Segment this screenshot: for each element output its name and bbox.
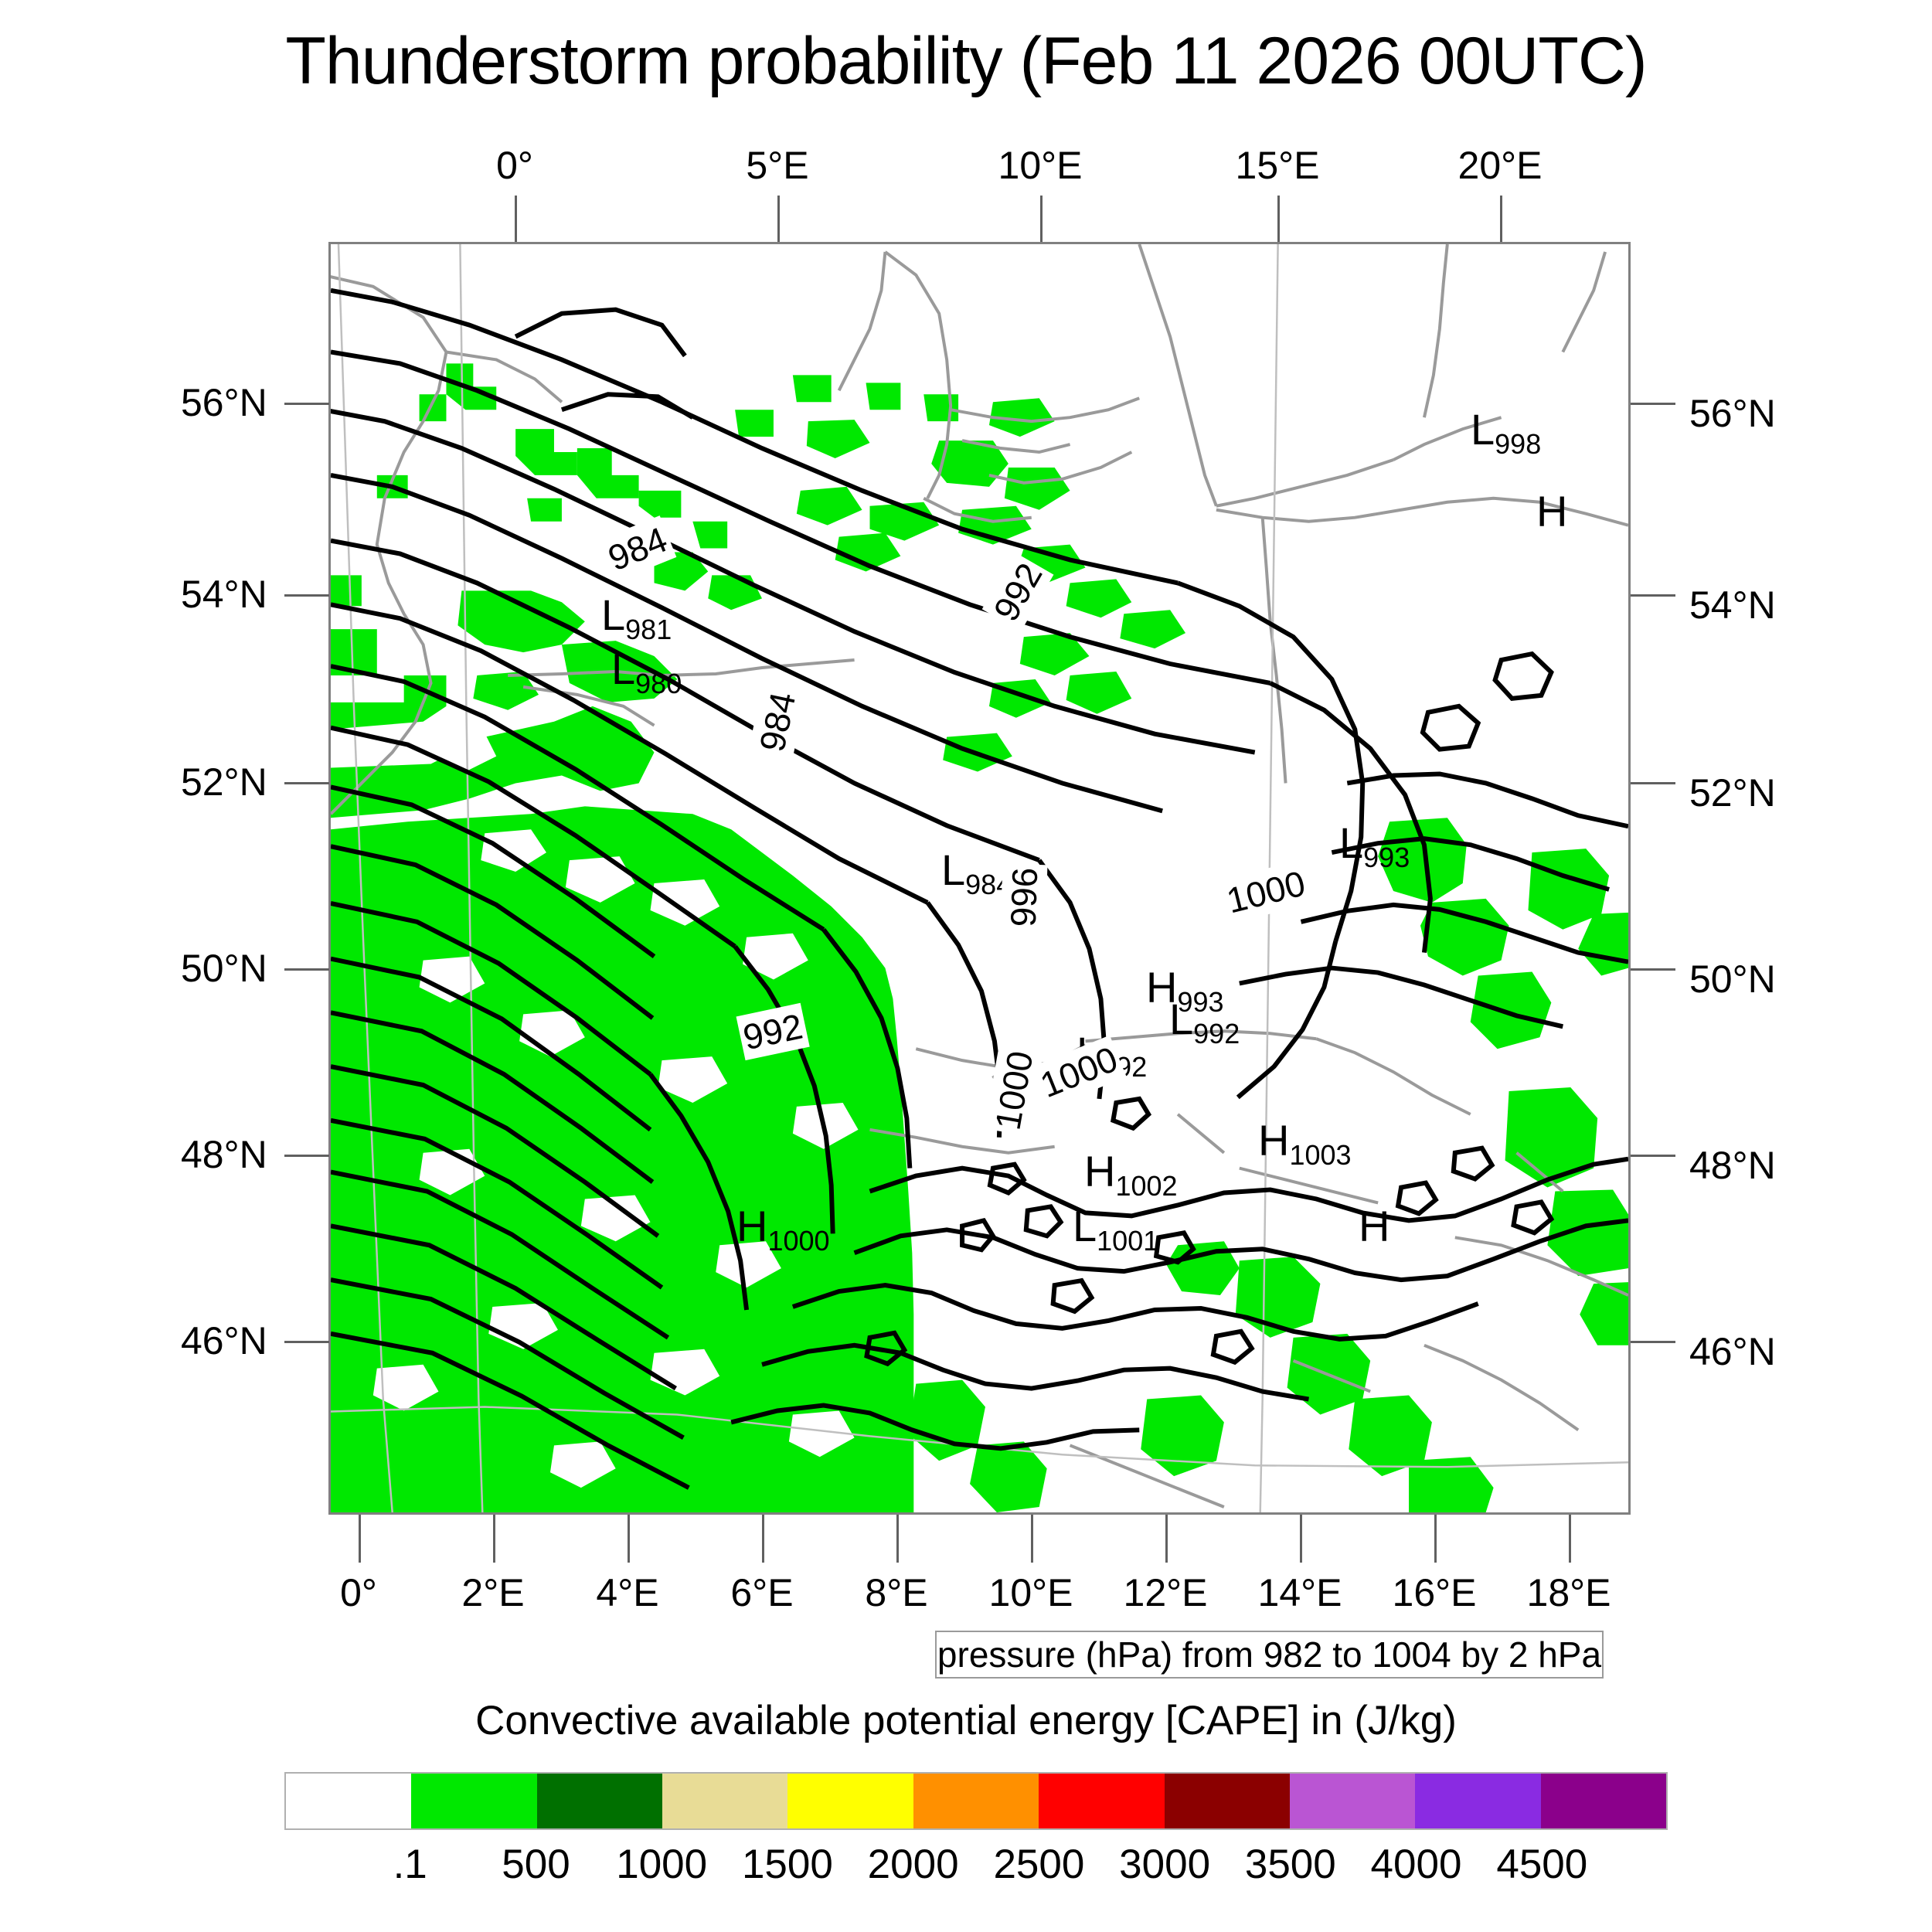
colorbar-label-3: 1500 xyxy=(742,1841,833,1888)
pressure-center-value: 1000 xyxy=(767,1225,829,1257)
bottom-tick-2 xyxy=(493,1515,495,1563)
pressure-center-L-981: L981 xyxy=(601,594,672,637)
left-axis-label-50: 50°N xyxy=(181,946,267,991)
pressure-center-value: 1003 xyxy=(1289,1139,1351,1171)
bottom-axis-label-4: 4°E xyxy=(596,1570,658,1615)
right-tick-48 xyxy=(1631,1155,1675,1157)
colorbar-swatch-10[interactable] xyxy=(1541,1774,1666,1828)
pressure-center-L-998: L998 xyxy=(1471,408,1541,451)
pressure-center-L-980: L980 xyxy=(611,648,682,691)
pressure-center-H-1002: H1002 xyxy=(1084,1150,1178,1193)
pressure-center-value: 981 xyxy=(625,614,672,645)
right-axis-label-52: 52°N xyxy=(1689,770,1776,815)
pressure-center-L-1001: L1001 xyxy=(1073,1205,1158,1248)
left-tick-50 xyxy=(284,968,329,971)
bottom-axis-label-0: 0° xyxy=(340,1570,377,1615)
right-axis-label-46: 46°N xyxy=(1689,1329,1776,1374)
bottom-tick-6 xyxy=(762,1515,764,1563)
bottom-tick-18 xyxy=(1569,1515,1571,1563)
colorbar[interactable] xyxy=(284,1772,1668,1830)
map-plot-area[interactable]: L998 H L981 L980 L984 L993 H993 L992 L99… xyxy=(328,242,1631,1515)
right-tick-54 xyxy=(1631,594,1675,597)
left-tick-56 xyxy=(284,403,329,405)
colorbar-label-7: 3500 xyxy=(1245,1841,1336,1888)
colorbar-label-9: 4500 xyxy=(1496,1841,1587,1888)
bottom-tick-4 xyxy=(628,1515,630,1563)
bottom-axis-label-16: 16°E xyxy=(1393,1570,1477,1615)
pressure-center-value: 993 xyxy=(1363,842,1410,873)
left-tick-54 xyxy=(284,594,329,597)
top-axis-label-10: 10°E xyxy=(998,143,1083,188)
left-axis-label-56: 56°N xyxy=(181,380,267,425)
bottom-axis-label-8: 8°E xyxy=(865,1570,927,1615)
pressure-center-type: L xyxy=(611,645,635,693)
pressure-center-type: L xyxy=(1471,405,1495,454)
pressure-center-type: H xyxy=(1258,1116,1289,1165)
right-tick-56 xyxy=(1631,403,1675,405)
left-axis-label-46: 46°N xyxy=(181,1318,267,1363)
top-axis-label-0: 0° xyxy=(496,143,533,188)
pressure-center-type: H xyxy=(1536,487,1567,536)
colorbar-swatch-6[interactable] xyxy=(1039,1774,1164,1828)
colorbar-swatch-4[interactable] xyxy=(787,1774,913,1828)
top-tick-0 xyxy=(515,196,517,242)
contour-label-996: 996 xyxy=(1001,864,1048,931)
pressure-center-type: H xyxy=(736,1202,767,1250)
colorbar-swatch-0[interactable] xyxy=(286,1774,411,1828)
colorbar-label-6: 3000 xyxy=(1119,1841,1210,1888)
right-tick-52 xyxy=(1631,782,1675,784)
colorbar-swatch-3[interactable] xyxy=(662,1774,787,1828)
pressure-center-type: L xyxy=(601,590,625,639)
colorbar-swatch-9[interactable] xyxy=(1415,1774,1540,1828)
bottom-tick-14 xyxy=(1300,1515,1302,1563)
bottom-tick-10 xyxy=(1031,1515,1033,1563)
top-axis-label-15: 15°E xyxy=(1236,143,1320,188)
colorbar-label-4: 2000 xyxy=(868,1841,959,1888)
pressure-center-type: L xyxy=(1073,1202,1097,1250)
colorbar-label-0: .1 xyxy=(393,1841,427,1888)
left-tick-48 xyxy=(284,1155,329,1157)
top-tick-15 xyxy=(1277,196,1280,242)
right-axis-label-54: 54°N xyxy=(1689,583,1776,628)
pressure-center-type: H xyxy=(1084,1147,1115,1196)
colorbar-swatch-7[interactable] xyxy=(1165,1774,1290,1828)
pressure-center-H-top: H xyxy=(1536,490,1567,533)
bottom-tick-16 xyxy=(1434,1515,1437,1563)
colorbar-labels: .1 500 1000 1500 2000 2500 3000 3500 400… xyxy=(284,1841,1668,1887)
pressure-center-H-1000: H1000 xyxy=(736,1205,830,1248)
right-axis-label-48: 48°N xyxy=(1689,1143,1776,1188)
bottom-axis-label-10: 10°E xyxy=(989,1570,1073,1615)
colorbar-swatch-8[interactable] xyxy=(1290,1774,1415,1828)
top-tick-5 xyxy=(777,196,780,242)
colorbar-label-5: 2500 xyxy=(993,1841,1084,1888)
colorbar-label-2: 1000 xyxy=(616,1841,707,1888)
left-tick-52 xyxy=(284,782,329,784)
pressure-center-value: 1001 xyxy=(1097,1225,1158,1257)
colorbar-swatch-1[interactable] xyxy=(411,1774,536,1828)
pressure-center-type: L xyxy=(1339,818,1363,867)
right-axis-label-50: 50°N xyxy=(1689,957,1776,1002)
top-tick-10 xyxy=(1040,196,1043,242)
pressure-center-type: H xyxy=(1359,1202,1389,1250)
pressure-center-L-993: L993 xyxy=(1339,821,1410,865)
bottom-axis-label-2: 2°E xyxy=(461,1570,524,1615)
bottom-axis-label-6: 6°E xyxy=(730,1570,793,1615)
right-tick-50 xyxy=(1631,968,1675,971)
bottom-tick-8 xyxy=(896,1515,899,1563)
colorbar-title: Convective available potential energy [C… xyxy=(0,1697,1932,1744)
right-tick-46 xyxy=(1631,1341,1675,1343)
left-axis-label-52: 52°N xyxy=(181,760,267,804)
page-title: Thunderstorm probability (Feb 11 2026 00… xyxy=(0,23,1932,100)
top-tick-20 xyxy=(1500,196,1502,242)
right-axis-label-56: 56°N xyxy=(1689,391,1776,436)
pressure-center-value: 980 xyxy=(635,668,682,699)
colorbar-swatch-2[interactable] xyxy=(537,1774,662,1828)
pressure-center-L-992-a: L992 xyxy=(1169,998,1240,1041)
bottom-axis-label-18: 18°E xyxy=(1527,1570,1611,1615)
pressure-contour-note: pressure (hPa) from 982 to 1004 by 2 hPa xyxy=(935,1631,1604,1679)
colorbar-label-8: 4000 xyxy=(1371,1841,1462,1888)
bottom-axis-label-12: 12°E xyxy=(1124,1570,1208,1615)
colorbar-swatch-5[interactable] xyxy=(913,1774,1039,1828)
pressure-center-type: L xyxy=(1169,995,1193,1043)
pressure-center-value: 998 xyxy=(1495,428,1541,460)
pressure-center-H-bottom: H xyxy=(1359,1205,1389,1248)
left-tick-46 xyxy=(284,1341,329,1343)
left-axis-label-48: 48°N xyxy=(181,1132,267,1177)
left-axis-label-54: 54°N xyxy=(181,572,267,617)
pressure-center-value: 1002 xyxy=(1115,1170,1177,1202)
bottom-axis-label-14: 14°E xyxy=(1258,1570,1342,1615)
pressure-center-H-1003: H1003 xyxy=(1258,1119,1352,1162)
top-axis-label-5: 5°E xyxy=(746,143,808,188)
bottom-tick-12 xyxy=(1165,1515,1168,1563)
top-axis-label-20: 20°E xyxy=(1458,143,1543,188)
pressure-center-type: L xyxy=(941,845,965,894)
pressure-center-value: 992 xyxy=(1193,1018,1240,1049)
colorbar-label-1: 500 xyxy=(502,1841,570,1888)
bottom-tick-0 xyxy=(359,1515,361,1563)
